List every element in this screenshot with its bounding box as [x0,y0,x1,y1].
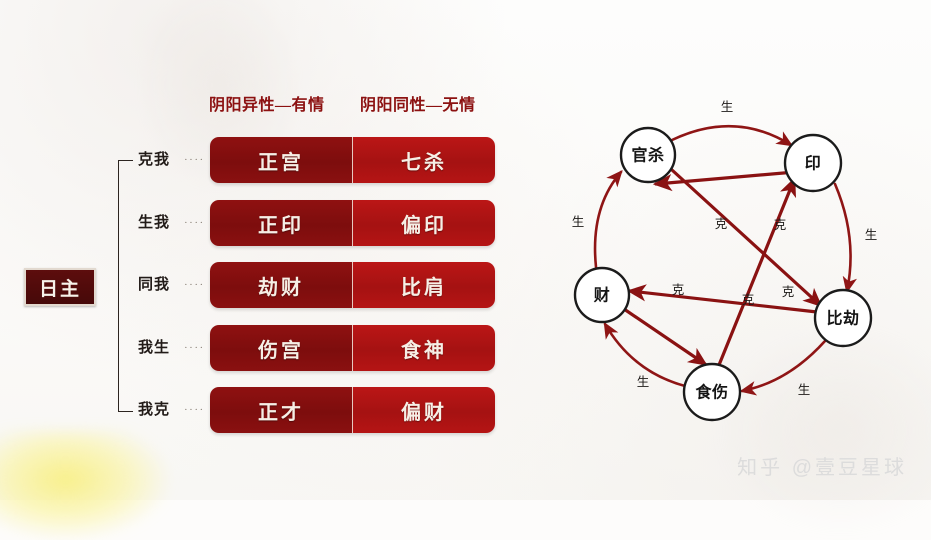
row-pill[interactable]: 伤宫 食神 [210,325,495,371]
sheng-label-left: 生 [572,215,585,229]
row-relation-label: 同我 [138,262,182,308]
row-dots: ···· [184,200,206,246]
yellow-decoration-blob [0,430,170,540]
row-dots: ···· [184,262,206,308]
cell-yin-yang-different[interactable]: 正印 [210,200,352,246]
cell-yin-yang-different[interactable]: 正宫 [210,137,352,183]
row-dots: ···· [184,387,206,433]
row-relation-label: 我克 [138,387,182,433]
sheng-label-bottom-right: 生 [798,383,811,397]
sheng-arrow-guansha-yin [672,126,791,145]
ke-arrow-guansha-bijie [672,170,820,305]
node-label: 财 [593,286,611,305]
diagram-canvas: 阴阳异性—有情 阴阳同性—无情 日主 克我 ···· 正宫 七杀 生我 ····… [0,0,931,500]
node-yin[interactable]: 印 [785,135,841,191]
ke-label-2: 克 [774,218,787,232]
column-header-yin-yang-different: 阴阳异性—有情 [209,91,325,115]
node-label: 比劫 [826,309,859,328]
cell-yin-yang-different[interactable]: 劫财 [210,262,352,308]
row-pill[interactable]: 正宫 七杀 [210,137,495,183]
cell-yin-yang-same[interactable]: 食神 [352,325,495,371]
node-label: 印 [805,155,822,173]
watermark: 知乎 @壹豆星球 [737,451,907,480]
node-label: 官杀 [631,146,664,165]
row-dots: ···· [184,325,206,371]
row-pill[interactable]: 劫财 比肩 [210,262,495,308]
sheng-label-bottom-left: 生 [637,375,650,389]
cell-yin-yang-same[interactable]: 七杀 [352,137,495,183]
row-dots: ···· [184,137,206,183]
column-header-yin-yang-same: 阴阳同性—无情 [360,91,476,115]
row-pill[interactable]: 正印 偏印 [210,200,495,246]
cell-yin-yang-same[interactable]: 偏印 [352,200,495,246]
node-guansha[interactable]: 官杀 [621,128,675,182]
sheng-arrow-cai-guansha [595,172,621,267]
ke-label-4: 克 [742,293,755,307]
ke-label-1: 克 [715,217,728,231]
cell-yin-yang-same[interactable]: 偏财 [352,387,495,433]
ke-label-3: 克 [672,283,685,297]
sheng-arrow-bijie-shishang [742,341,825,391]
row-pill[interactable]: 正才 偏财 [210,387,495,433]
ke-arrow-cai-shishang [624,309,705,364]
ke-label-5: 克 [782,285,795,299]
node-cai[interactable]: 财 [575,268,629,322]
sheng-arrow-yin-bijie [835,184,851,291]
cell-yin-yang-same[interactable]: 比肩 [352,262,495,308]
row-relation-label: 克我 [138,137,182,183]
node-label: 食伤 [694,383,728,402]
cell-yin-yang-different[interactable]: 伤宫 [210,325,352,371]
row-relation-label: 生我 [138,200,182,246]
node-bijie[interactable]: 比劫 [815,290,871,346]
sheng-label-top: 生 [721,100,734,114]
row-relation-label: 我生 [138,325,182,371]
five-element-cycle-diagram: 官杀 印 比劫 食伤 财 生 生 生 生 生 [520,60,931,450]
node-shishang[interactable]: 食伤 [684,364,740,420]
cell-yin-yang-different[interactable]: 正才 [210,387,352,433]
sheng-label-right: 生 [865,228,878,242]
